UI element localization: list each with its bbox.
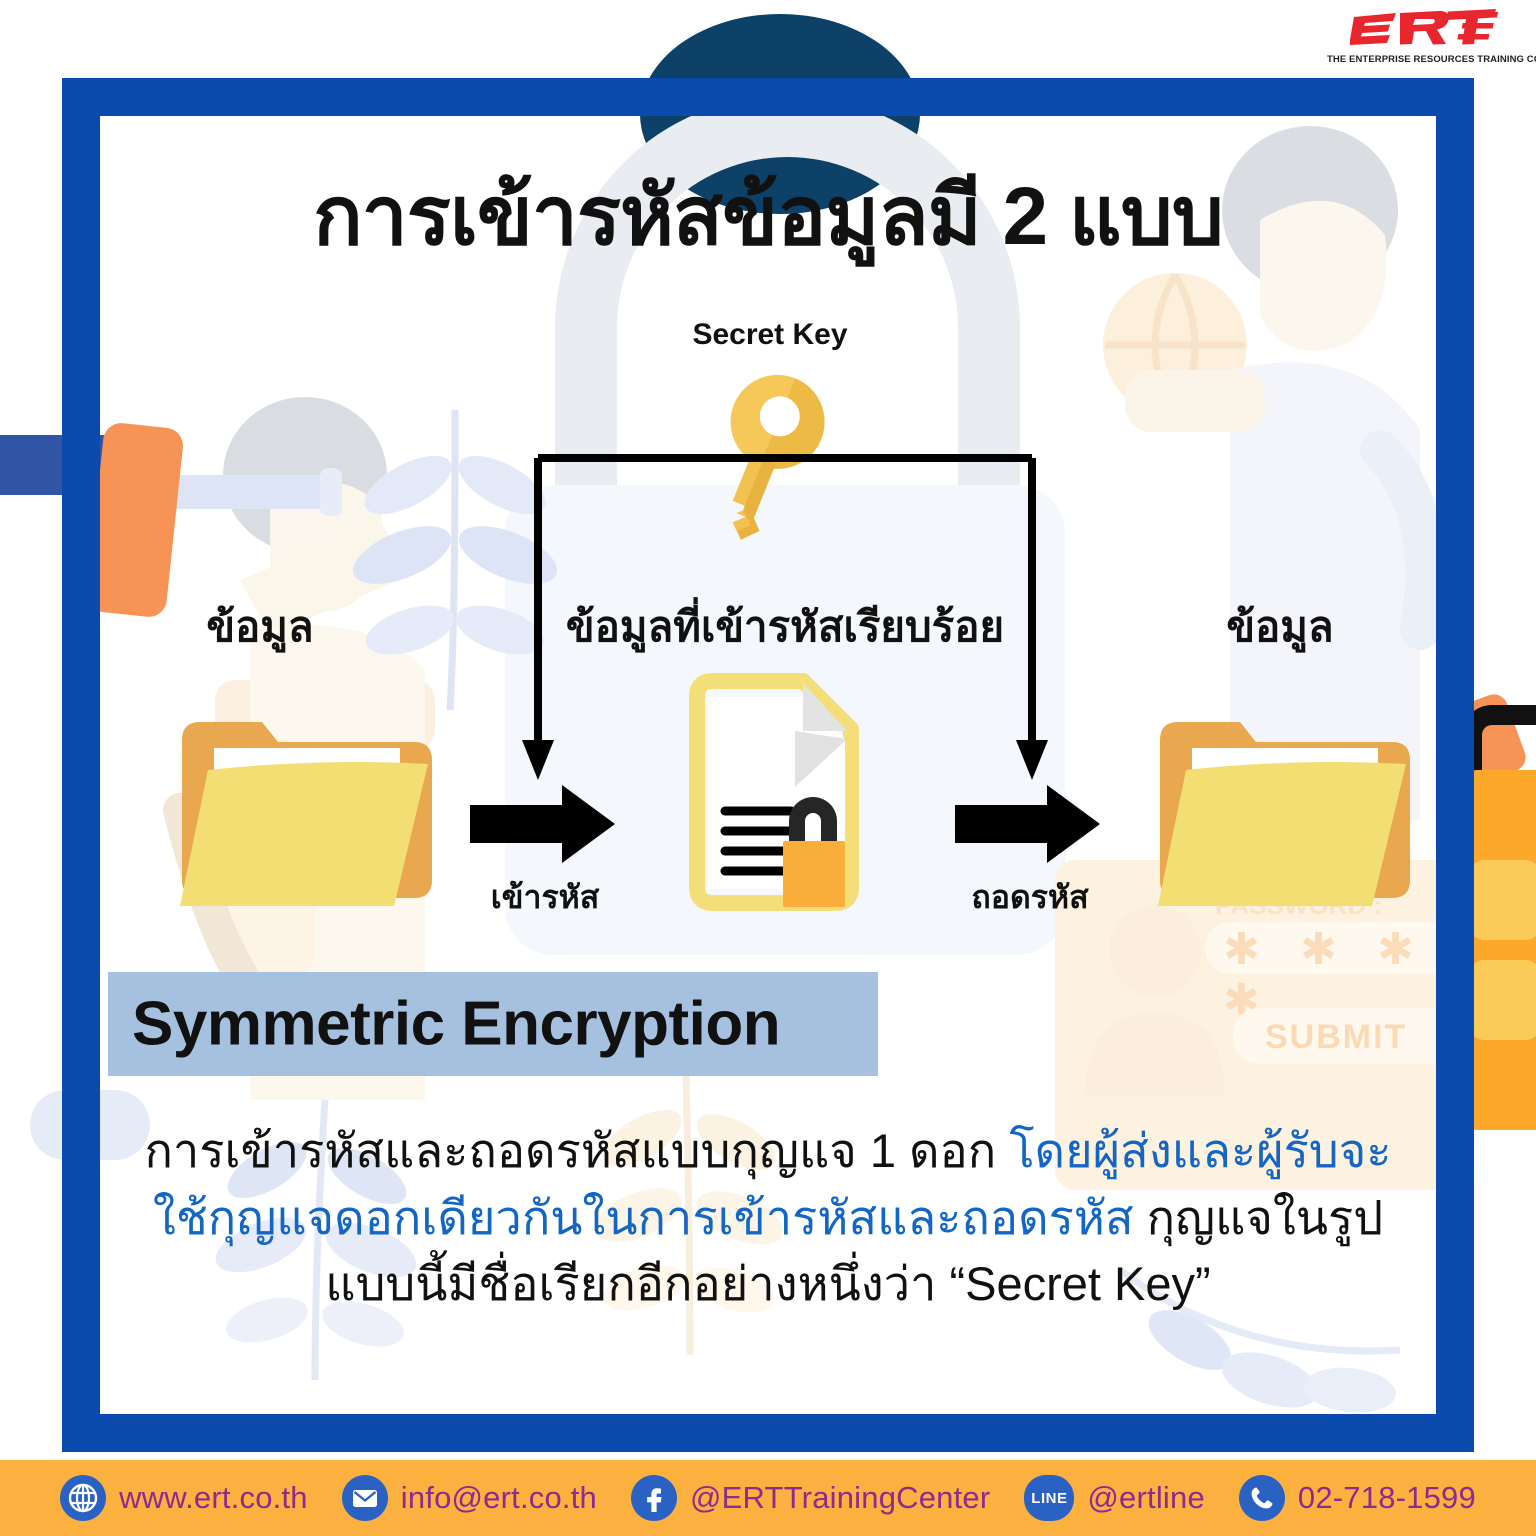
ert-logo-mark-icon (1350, 8, 1500, 48)
section-banner-title: Symmetric Encryption (132, 989, 780, 1060)
line-icon: LINE (1024, 1475, 1074, 1521)
footer-phone-text: 02-718-1599 (1298, 1480, 1476, 1516)
section-banner: Symmetric Encryption (108, 972, 878, 1076)
footer-item-email[interactable]: info@ert.co.th (325, 1475, 614, 1521)
suitcase-latch-shape (1470, 960, 1536, 1040)
infographic-canvas: PASSWORD : ✱ ✱ ✱ ✱ SUBMIT (0, 0, 1536, 1536)
footer-facebook-text: @ERTTrainingCenter (690, 1480, 990, 1516)
arrow-right-icon (955, 785, 1100, 863)
column-label-source-data: ข้อมูล (130, 606, 390, 648)
body-line2-black: กุญแจในรูป (1147, 1191, 1384, 1244)
secret-key-label: Secret Key (620, 318, 920, 352)
footer-item-line[interactable]: LINE @ertline (1007, 1475, 1222, 1521)
folder-icon (172, 700, 442, 915)
footer-email-text: info@ert.co.th (401, 1480, 597, 1516)
footer-line-text: @ertline (1087, 1480, 1205, 1516)
footer-item-phone[interactable]: 02-718-1599 (1222, 1475, 1493, 1521)
footer-item-website[interactable]: www.ert.co.th (43, 1475, 325, 1521)
ert-logo-tagline: THE ENTERPRISE RESOURCES TRAINING CO.,LT… (1327, 54, 1522, 65)
body-line3-black: แบบนี้มีชื่อเรียกอีกอย่างหนึ่งว่า “Secre… (325, 1257, 1210, 1310)
column-label-decrypted-data: ข้อมูล (1150, 606, 1410, 648)
arrow-right-icon (470, 785, 615, 863)
body-line2-blue: ใช้กุญแจดอกเดียวกันในการเข้ารหัสและถอดรห… (153, 1191, 1147, 1244)
body-description: การเข้ารหัสและถอดรหัสแบบกุญแจ 1 ดอก โดยผ… (112, 1118, 1424, 1318)
globe-icon (60, 1475, 106, 1521)
body-line1-black: การเข้ารหัสและถอดรหัสแบบกุญแจ 1 ดอก (144, 1124, 1009, 1177)
facebook-icon (631, 1475, 677, 1521)
envelope-icon (342, 1475, 388, 1521)
phone-icon (1239, 1475, 1285, 1521)
suitcase-latch-shape (1470, 860, 1536, 940)
folder-icon (1150, 700, 1420, 915)
ert-logo: THE ENTERPRISE RESOURCES TRAINING CO.,LT… (1327, 8, 1522, 70)
page-title: การเข้ารหัสข้อมูลมี 2 แบบ (100, 176, 1436, 258)
footer-website-text: www.ert.co.th (119, 1480, 308, 1516)
arrow-label-decrypt: ถอดรหัส (915, 872, 1145, 923)
column-label-encrypted-data: ข้อมูลที่เข้ารหัสเรียบร้อย (520, 606, 1050, 648)
footer-item-facebook[interactable]: @ERTTrainingCenter (614, 1475, 1007, 1521)
encrypted-document-icon (683, 673, 863, 913)
contact-footer: www.ert.co.th info@ert.co.th @ERTTrainin… (0, 1460, 1536, 1536)
body-line1-blue: โดยผู้ส่งและผู้รับจะ (1009, 1124, 1391, 1177)
arrow-label-encrypt: เข้ารหัส (430, 872, 660, 923)
